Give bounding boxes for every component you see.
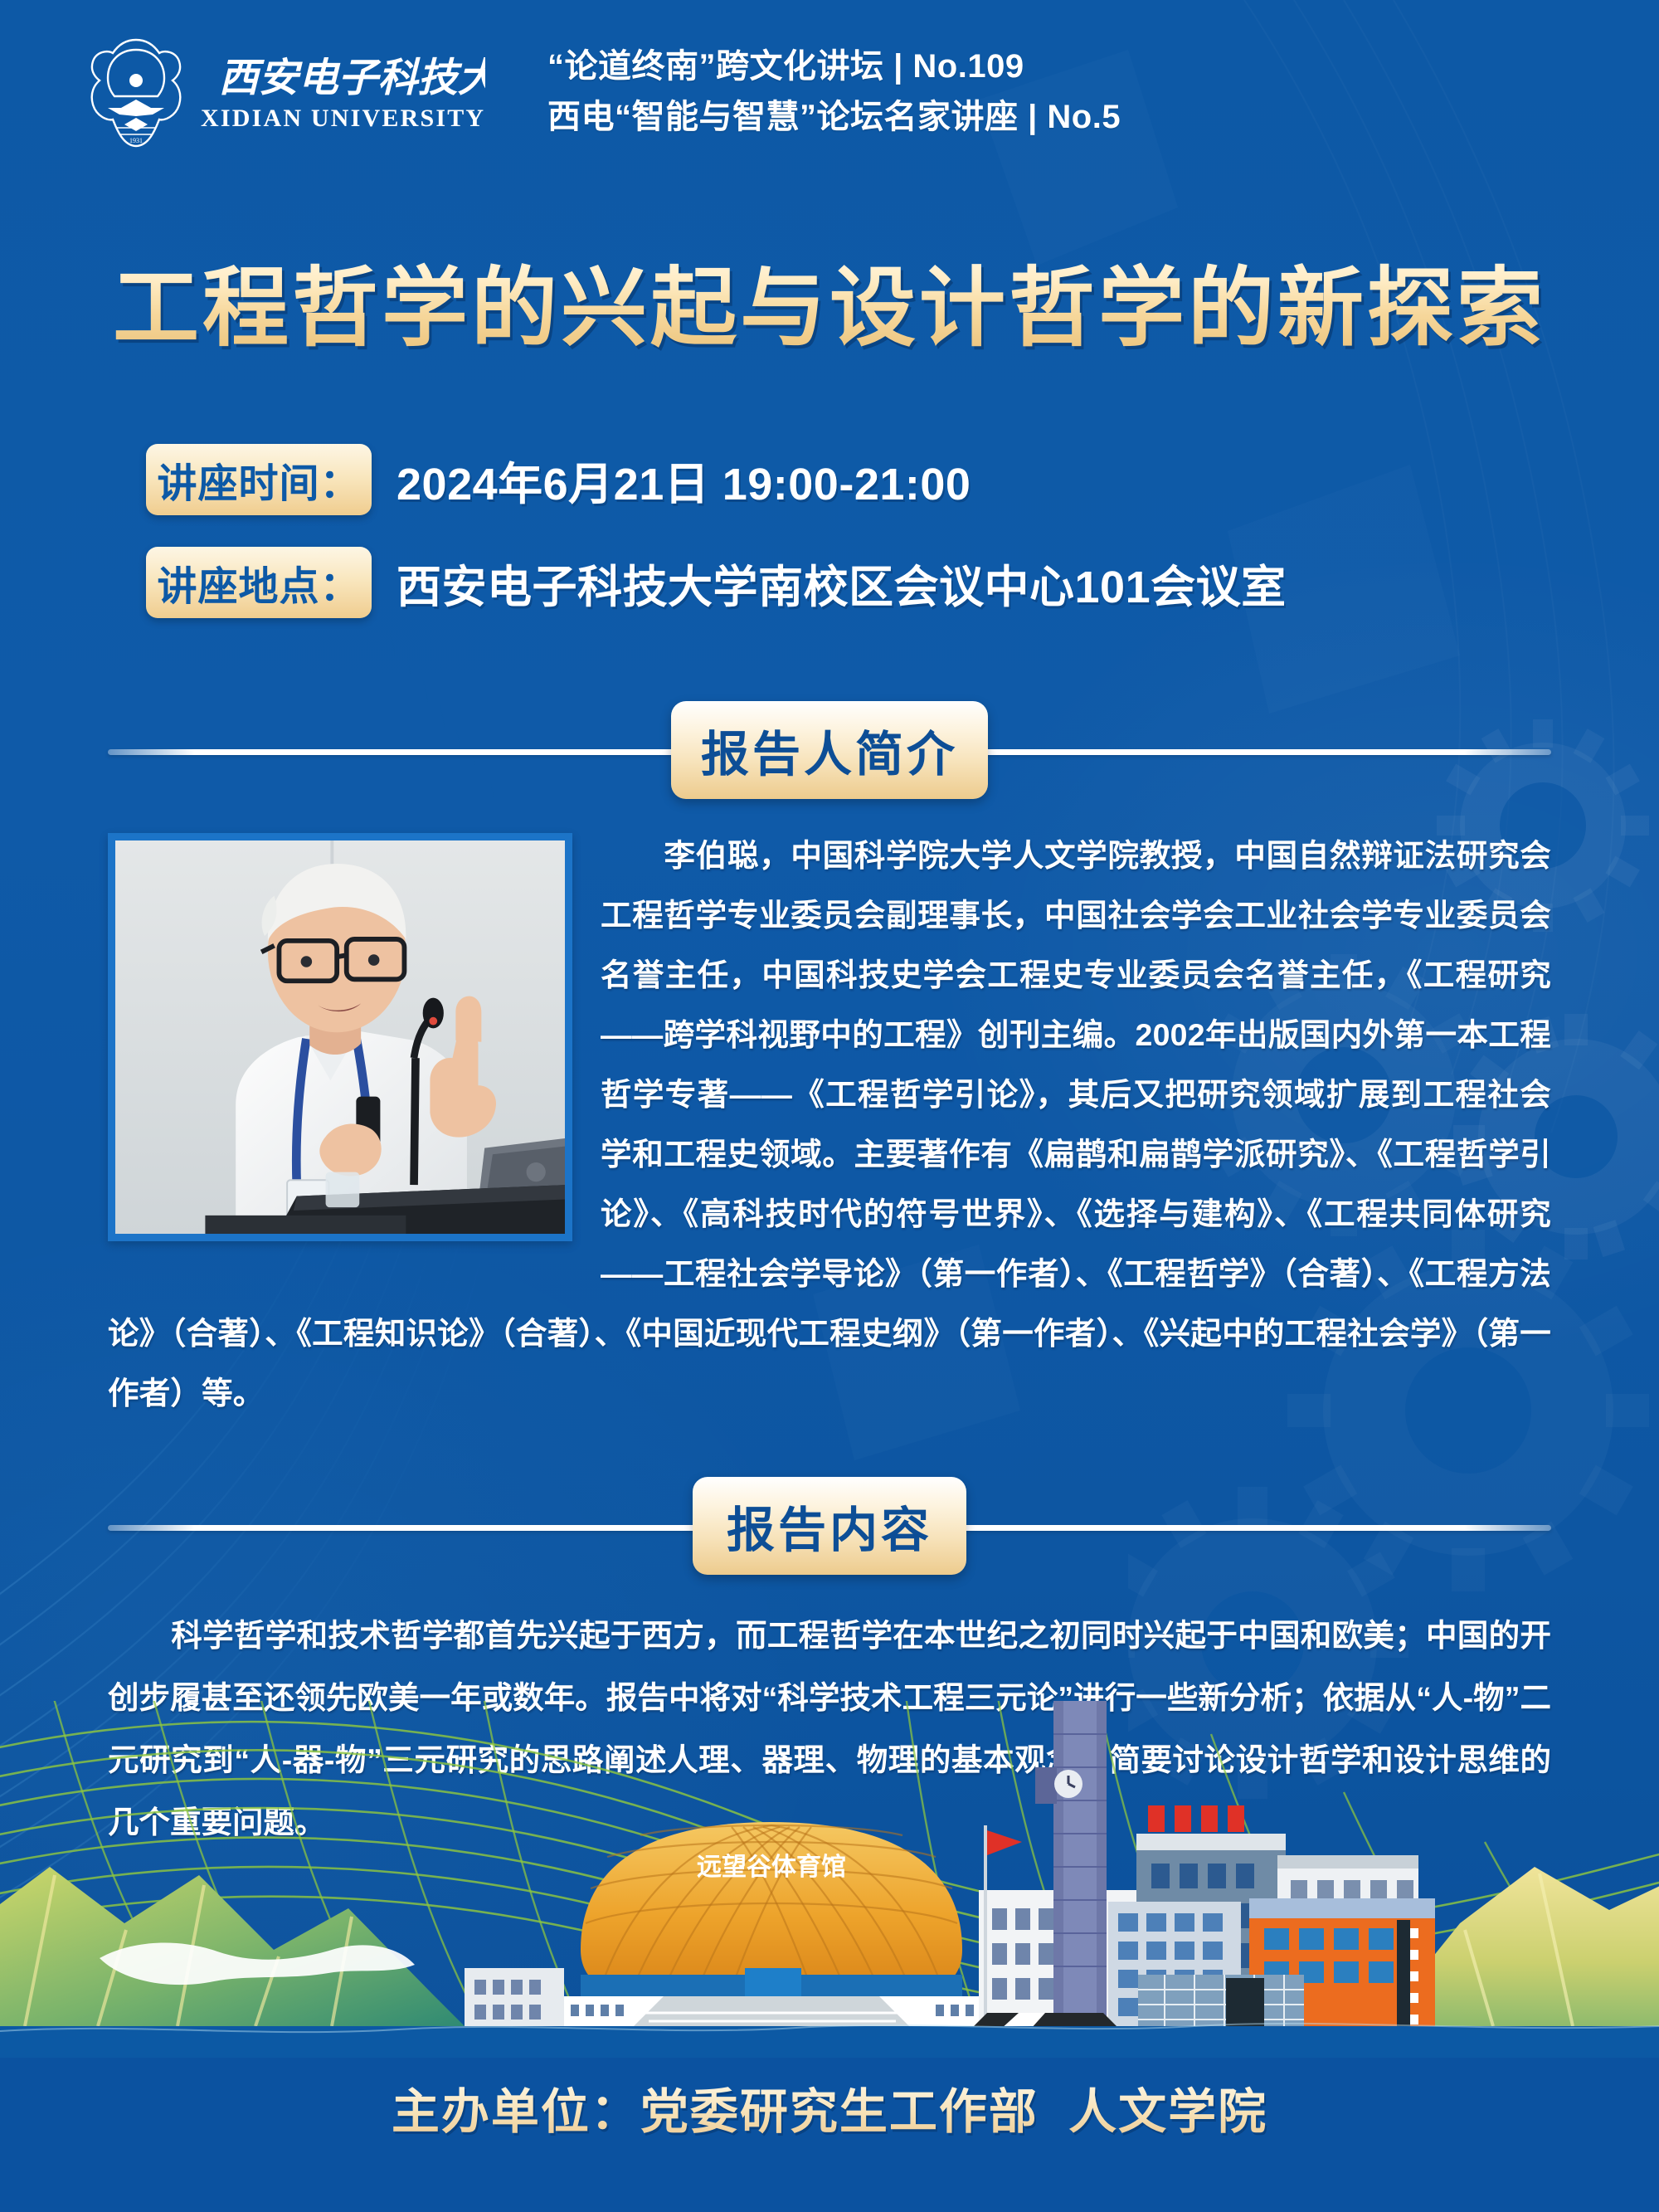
lecture-place-value: 西安电子科技大学南校区会议中心101会议室 [397,550,1287,616]
city-skyline-svg: 远望谷体育馆 [0,1701,1659,2058]
lecture-place-label: 讲座地点： [146,547,372,618]
speaker-section-heading: 报告人简介 [671,701,988,799]
poster-footer: 主办单位：党委研究生工作部 人文学院 [0,2058,1659,2212]
header-forum-line-2: 西电“智能与智慧”论坛名家讲座 | No.5 [547,92,1121,143]
red-flag-row [1148,1805,1244,1832]
content-section-header: 报告内容 [108,1477,1551,1576]
speaker-body: 李伯聪，中国科学院大学人文学院教授，中国自然辩证法研究会工程哲学专业委员会副理事… [108,826,1551,1423]
lecture-time-row: 讲座时间： 2024年6月21日 19:00-21:00 [146,444,1556,515]
poster-title: 工程哲学的兴起与设计哲学的新探索 [0,237,1659,363]
building-block-left [465,1968,564,2029]
speaker-section: 报告人简介 [0,701,1659,1423]
lecture-info: 讲座时间： 2024年6月21日 19:00-21:00 讲座地点： 西安电子科… [146,444,1556,650]
header-forum-line-1: “论道终南”跨文化讲坛 | No.109 [547,41,1121,92]
lecture-place-row: 讲座地点： 西安电子科技大学南校区会议中心101会议室 [146,547,1556,618]
building-block-glass [1138,1975,1304,2029]
city-skyline-illustration: 远望谷体育馆 [0,1701,1659,2058]
university-logo: 1931 西安电子科技大学 XIDIAN UNIVERSITY [83,35,485,151]
speaker-section-header: 报告人简介 [108,701,1551,801]
university-name-en: XIDIAN UNIVERSITY [201,105,485,133]
university-crest-icon: 1931 [83,35,189,151]
content-section-heading: 报告内容 [693,1477,966,1575]
stadium-label: 远望谷体育馆 [697,1853,846,1881]
university-name-cn-calligraphy: 西安电子科技大学 [201,53,485,101]
speaker-photo-illustration [115,840,565,1234]
speaker-photo [108,833,572,1241]
lecture-time-value: 2024年6月21日 19:00-21:00 [397,447,971,513]
university-wordmark: 西安电子科技大学 XIDIAN UNIVERSITY [201,53,485,133]
poster-root: 1931 西安电子科技大学 XIDIAN UNIVERSITY “论道终南”跨文… [0,0,1659,2212]
mountain-left [0,1867,465,2026]
header-series-lines: “论道终南”跨文化讲坛 | No.109 西电“智能与智慧”论坛名家讲座 | N… [547,41,1121,143]
university-name-cn-text: 西安电子科技大学 [219,56,486,100]
poster-header: 1931 西安电子科技大学 XIDIAN UNIVERSITY “论道终南”跨文… [0,0,1659,179]
organizer-text: 主办单位：党委研究生工作部 人文学院 [392,2073,1267,2142]
lecture-time-label: 讲座时间： [146,444,372,515]
svg-text:1931: 1931 [129,137,143,144]
stadium-building: 远望谷体育馆 [531,1822,1012,2029]
